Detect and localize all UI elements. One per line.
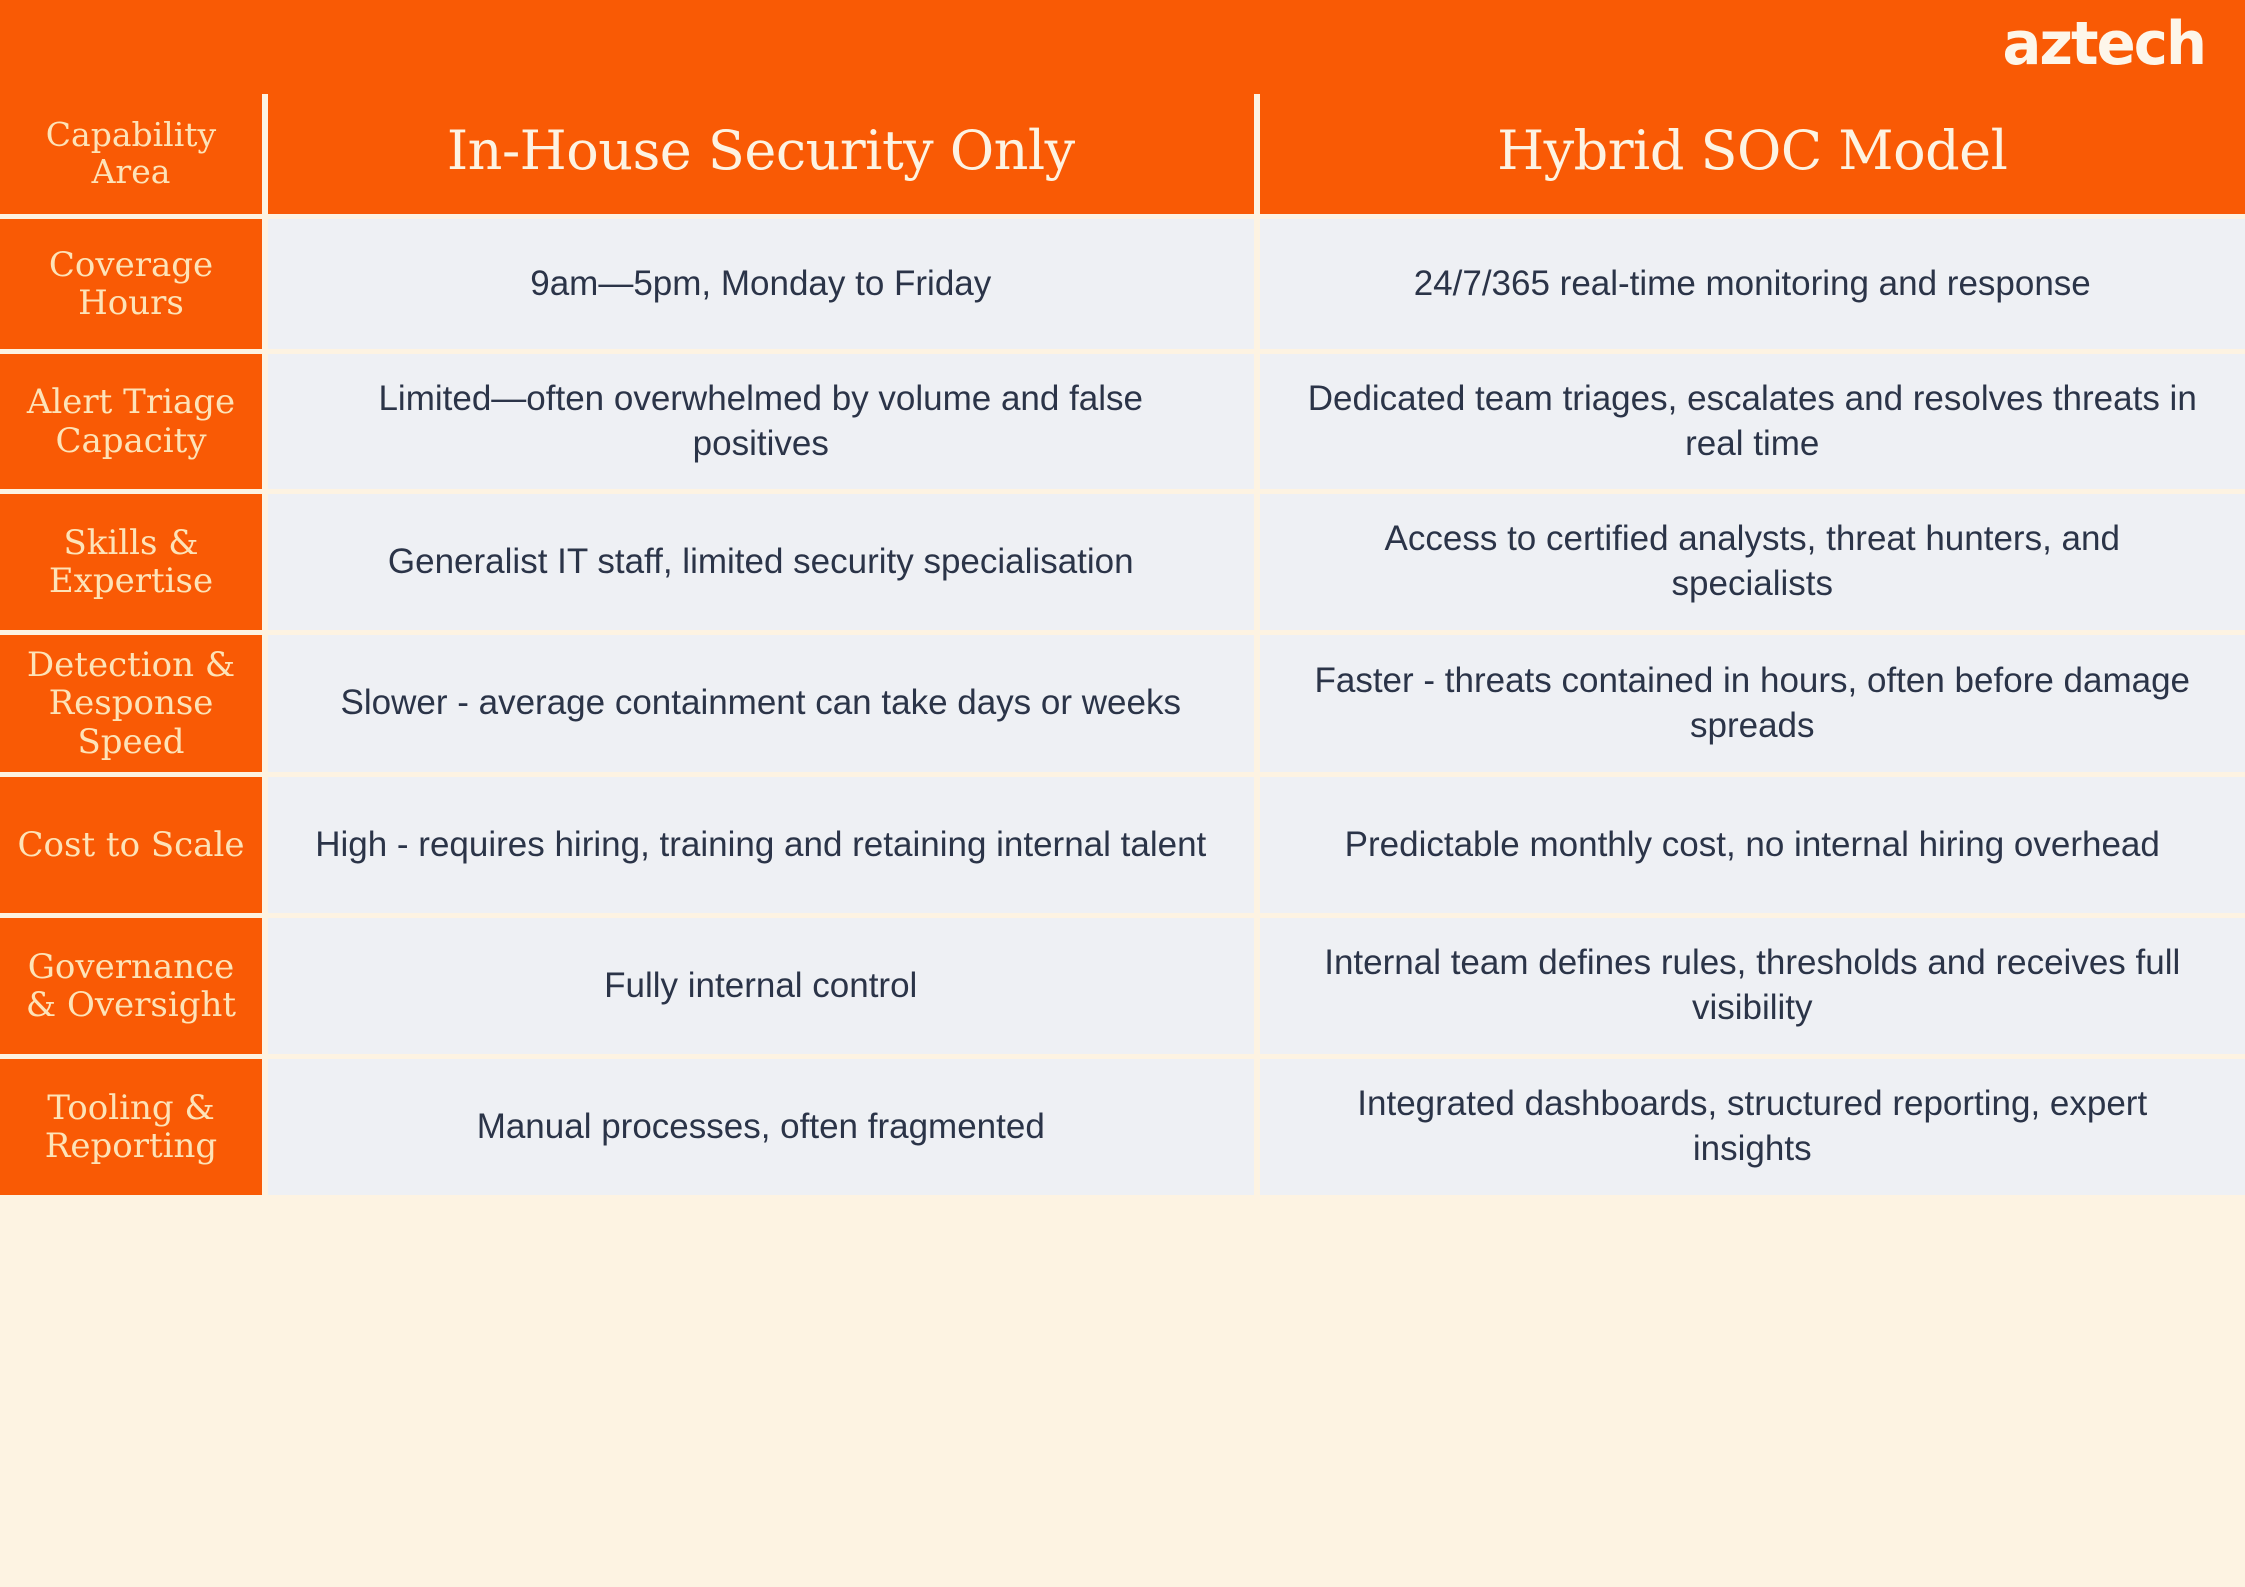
header-capability-area: Capability Area	[0, 94, 262, 214]
row-label-cost-to-scale: Cost to Scale	[0, 777, 262, 913]
row-label-coverage-hours: Coverage Hours	[0, 219, 262, 349]
row-cell-hybrid-detection-response-speed: Faster - threats contained in hours, oft…	[1260, 635, 2245, 772]
row-cell-in-house-governance-oversight: Fully internal control	[268, 918, 1254, 1054]
brand-header-band: aztech	[0, 0, 2245, 94]
row-cell-hybrid-cost-to-scale: Predictable monthly cost, no internal hi…	[1260, 777, 2245, 913]
row-cell-hybrid-governance-oversight: Internal team defines rules, thresholds …	[1260, 918, 2245, 1054]
header-in-house-security-only: In-House Security Only	[268, 94, 1254, 214]
table-row: Alert Triage Capacity Limited—often over…	[0, 354, 2245, 489]
row-cell-in-house-tooling-reporting: Manual processes, often fragmented	[268, 1059, 1254, 1195]
header-hybrid-soc-model: Hybrid SOC Model	[1260, 94, 2245, 214]
row-cell-hybrid-skills-expertise: Access to certified analysts, threat hun…	[1260, 494, 2245, 630]
comparison-table: Capability Area In-House Security Only H…	[0, 94, 2245, 1587]
comparison-table-page: aztech Capability Area In-House Security…	[0, 0, 2245, 1587]
row-label-alert-triage-capacity: Alert Triage Capacity	[0, 354, 262, 489]
table-row: Tooling & Reporting Manual processes, of…	[0, 1059, 2245, 1195]
table-row: Detection & Response Speed Slower - aver…	[0, 635, 2245, 772]
row-cell-hybrid-coverage-hours: 24/7/365 real-time monitoring and respon…	[1260, 219, 2245, 349]
row-label-detection-response-speed: Detection & Response Speed	[0, 635, 262, 772]
row-cell-in-house-skills-expertise: Generalist IT staff, limited security sp…	[268, 494, 1254, 630]
row-cell-in-house-detection-response-speed: Slower - average containment can take da…	[268, 635, 1254, 772]
row-label-governance-oversight: Governance & Oversight	[0, 918, 262, 1054]
table-row: Governance & Oversight Fully internal co…	[0, 918, 2245, 1054]
table-row: Skills & Expertise Generalist IT staff, …	[0, 494, 2245, 630]
table-row: Cost to Scale High - requires hiring, tr…	[0, 777, 2245, 913]
table-row: Coverage Hours 9am—5pm, Monday to Friday…	[0, 219, 2245, 349]
row-label-skills-expertise: Skills & Expertise	[0, 494, 262, 630]
row-cell-in-house-coverage-hours: 9am—5pm, Monday to Friday	[268, 219, 1254, 349]
row-cell-hybrid-alert-triage-capacity: Dedicated team triages, escalates and re…	[1260, 354, 2245, 489]
row-cell-hybrid-tooling-reporting: Integrated dashboards, structured report…	[1260, 1059, 2245, 1195]
row-cell-in-house-alert-triage-capacity: Limited—often overwhelmed by volume and …	[268, 354, 1254, 489]
row-label-tooling-reporting: Tooling & Reporting	[0, 1059, 262, 1195]
row-cell-in-house-cost-to-scale: High - requires hiring, training and ret…	[268, 777, 1254, 913]
table-header-row: Capability Area In-House Security Only H…	[0, 94, 2245, 214]
aztech-logo: aztech	[2002, 14, 2205, 80]
